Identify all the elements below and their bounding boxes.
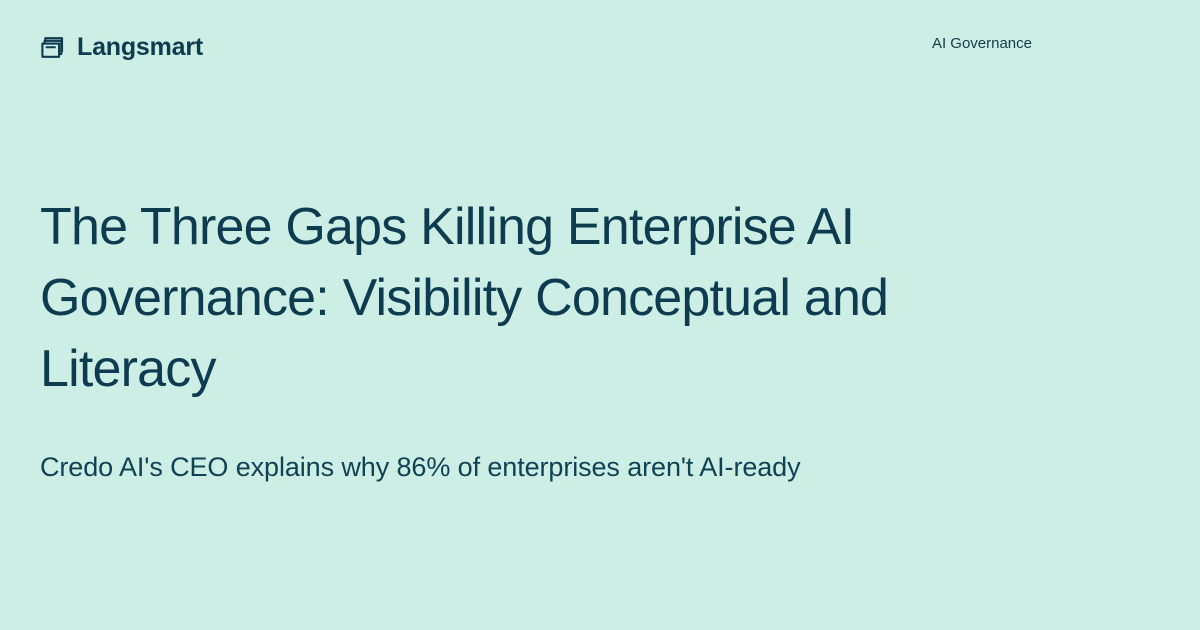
page-subtitle: Credo AI's CEO explains why 86% of enter… — [40, 445, 820, 489]
brand-name: Langsmart — [77, 35, 203, 60]
brand-logo[interactable]: Langsmart — [40, 28, 203, 66]
card-header: Langsmart AI Governance — [0, 0, 1200, 76]
stacked-layers-icon — [40, 34, 66, 60]
card-body: The Three Gaps Killing Enterprise AI Gov… — [0, 76, 1200, 630]
page-title: The Three Gaps Killing Enterprise AI Gov… — [40, 192, 920, 405]
category-label: AI Governance — [932, 28, 1032, 51]
content-block: The Three Gaps Killing Enterprise AI Gov… — [40, 192, 920, 489]
social-share-card: Langsmart AI Governance The Three Gaps K… — [0, 0, 1200, 630]
